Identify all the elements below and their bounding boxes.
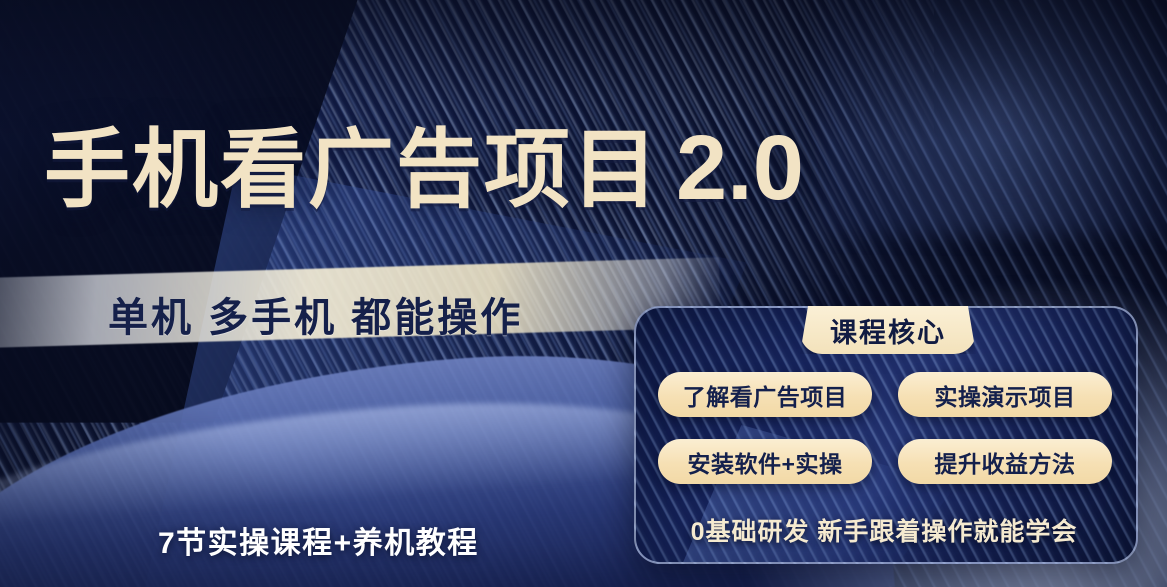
- poster-tagline: 7节实操课程+养机教程: [158, 518, 479, 562]
- feature-pill-label: 了解看广告项目: [683, 378, 848, 412]
- poster-subtitle: 单机 多手机 都能操作: [108, 285, 523, 343]
- course-core-badge-label: 课程核心: [830, 311, 946, 350]
- feature-pill[interactable]: 安装软件+实操: [658, 439, 872, 484]
- poster-title-main: 手机看广告项目: [44, 122, 660, 218]
- course-core-badge: 课程核心: [800, 306, 976, 354]
- feature-pill[interactable]: 提升收益方法: [898, 439, 1112, 484]
- feature-pill-list: 了解看广告项目 实操演示项目 安装软件+实操 提升收益方法: [658, 372, 1112, 484]
- card-footer-note: 0基础研发 新手跟着操作就能学会: [634, 512, 1134, 548]
- feature-pill-label: 安装软件+实操: [688, 445, 843, 479]
- feature-pill-label: 提升收益方法: [935, 445, 1076, 479]
- feature-pill[interactable]: 了解看广告项目: [658, 372, 872, 417]
- feature-pill[interactable]: 实操演示项目: [898, 372, 1112, 417]
- promo-poster: 手机看广告项目2.0 单机 多手机 都能操作 7节实操课程+养机教程 课程核心 …: [0, 0, 1167, 587]
- feature-pill-label: 实操演示项目: [935, 378, 1076, 412]
- poster-title: 手机看广告项目2.0: [44, 122, 804, 214]
- poster-title-version: 2.0: [676, 117, 804, 219]
